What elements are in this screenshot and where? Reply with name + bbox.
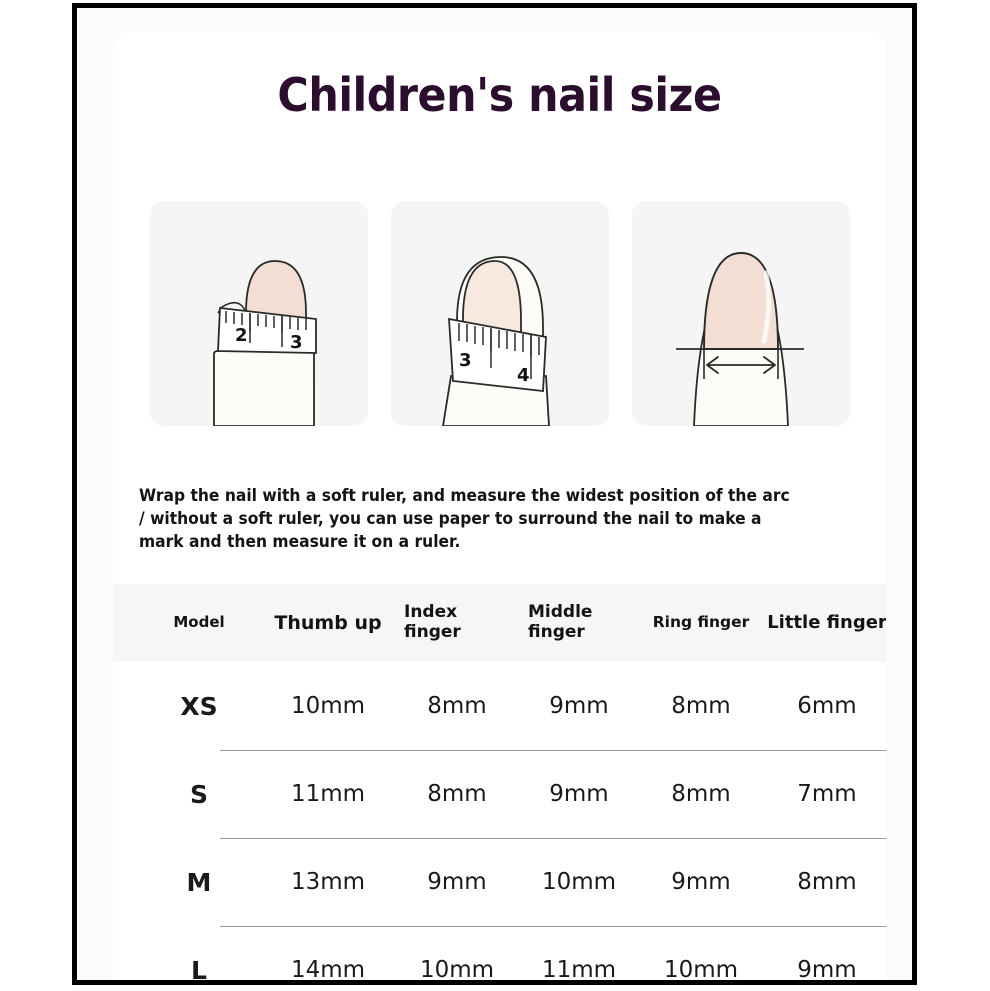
cell-middle: 10mm xyxy=(518,869,640,895)
cell-model: XS xyxy=(138,692,260,721)
cell-index: 8mm xyxy=(396,693,518,719)
cell-ring: 9mm xyxy=(640,869,762,895)
column-header-thumb-up: Thumb up xyxy=(260,612,396,634)
table-header-row: Model Thumb up Indexfinger Middlefinger … xyxy=(113,584,886,662)
cell-little: 6mm xyxy=(762,693,886,719)
column-header-model: Model xyxy=(138,614,260,631)
cell-middle: 9mm xyxy=(518,693,640,719)
page-title: Children's nail size xyxy=(140,68,859,122)
table-row: L 14mm 10mm 11mm 10mm 9mm xyxy=(113,926,886,985)
photo-frame: Children's nail size xyxy=(72,3,917,985)
size-chart-card: Children's nail size xyxy=(113,32,886,985)
panel-soft-ruler-thumb: 2 3 xyxy=(150,201,368,426)
soft-ruler-index-icon: 3 4 xyxy=(391,201,609,426)
cell-model: L xyxy=(138,956,260,985)
cell-little: 7mm xyxy=(762,781,886,807)
cell-index: 8mm xyxy=(396,781,518,807)
cell-middle: 9mm xyxy=(518,781,640,807)
cell-index: 10mm xyxy=(396,957,518,983)
cell-little: 9mm xyxy=(762,957,886,983)
panel-nail-width-arrow xyxy=(632,201,850,426)
cell-ring: 8mm xyxy=(640,693,762,719)
column-header-middle-finger: Middlefinger xyxy=(518,603,640,642)
page-background: Children's nail size xyxy=(77,8,912,980)
table-row: M 13mm 9mm 10mm 9mm 8mm xyxy=(113,838,886,926)
table-row: S 11mm 8mm 9mm 8mm 7mm xyxy=(113,750,886,838)
cell-ring: 10mm xyxy=(640,957,762,983)
measuring-instructions: Wrap the nail with a soft ruler, and mea… xyxy=(139,484,797,554)
svg-text:4: 4 xyxy=(517,365,530,386)
cell-middle: 11mm xyxy=(518,957,640,983)
table-row: XS 10mm 8mm 9mm 8mm 6mm xyxy=(113,662,886,750)
soft-ruler-thumb-icon: 2 3 xyxy=(150,201,368,426)
cell-ring: 8mm xyxy=(640,781,762,807)
cell-thumb: 13mm xyxy=(260,869,396,895)
cell-model: M xyxy=(138,868,260,897)
panel-soft-ruler-index: 3 4 xyxy=(391,201,609,426)
cell-thumb: 11mm xyxy=(260,781,396,807)
svg-text:2: 2 xyxy=(235,325,248,346)
cell-model: S xyxy=(138,780,260,809)
column-header-index-finger: Indexfinger xyxy=(396,603,518,642)
cell-little: 8mm xyxy=(762,869,886,895)
cell-index: 9mm xyxy=(396,869,518,895)
illustration-panels: 2 3 xyxy=(150,201,850,426)
svg-text:3: 3 xyxy=(459,350,472,371)
svg-text:3: 3 xyxy=(290,332,303,353)
cell-thumb: 10mm xyxy=(260,693,396,719)
nail-width-arrow-icon xyxy=(632,201,850,426)
cell-thumb: 14mm xyxy=(260,957,396,983)
column-header-ring-finger: Ring finger xyxy=(640,614,762,632)
column-header-little-finger: Little finger xyxy=(762,613,886,634)
